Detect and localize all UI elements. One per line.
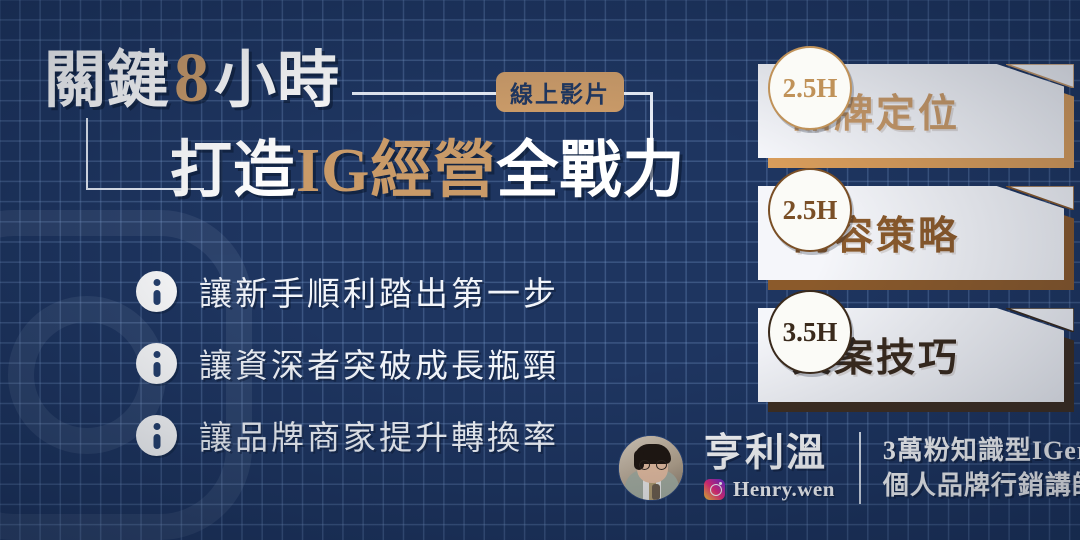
- duration-badge: 2.5H: [768, 168, 852, 252]
- vignette-overlay: [0, 0, 1080, 540]
- duration-badge: 3.5H: [768, 290, 852, 374]
- duration-badge-label: 3.5H: [783, 317, 838, 348]
- duration-badge: 2.5H: [768, 46, 852, 130]
- duration-badge-label: 2.5H: [783, 195, 838, 226]
- duration-badge-label: 2.5H: [783, 73, 838, 104]
- poster-canvas: 關鍵8小時 線上影片 打造IG經營全戰力 讓新手順利踏出第一步 讓資深者突破成長…: [0, 0, 1080, 540]
